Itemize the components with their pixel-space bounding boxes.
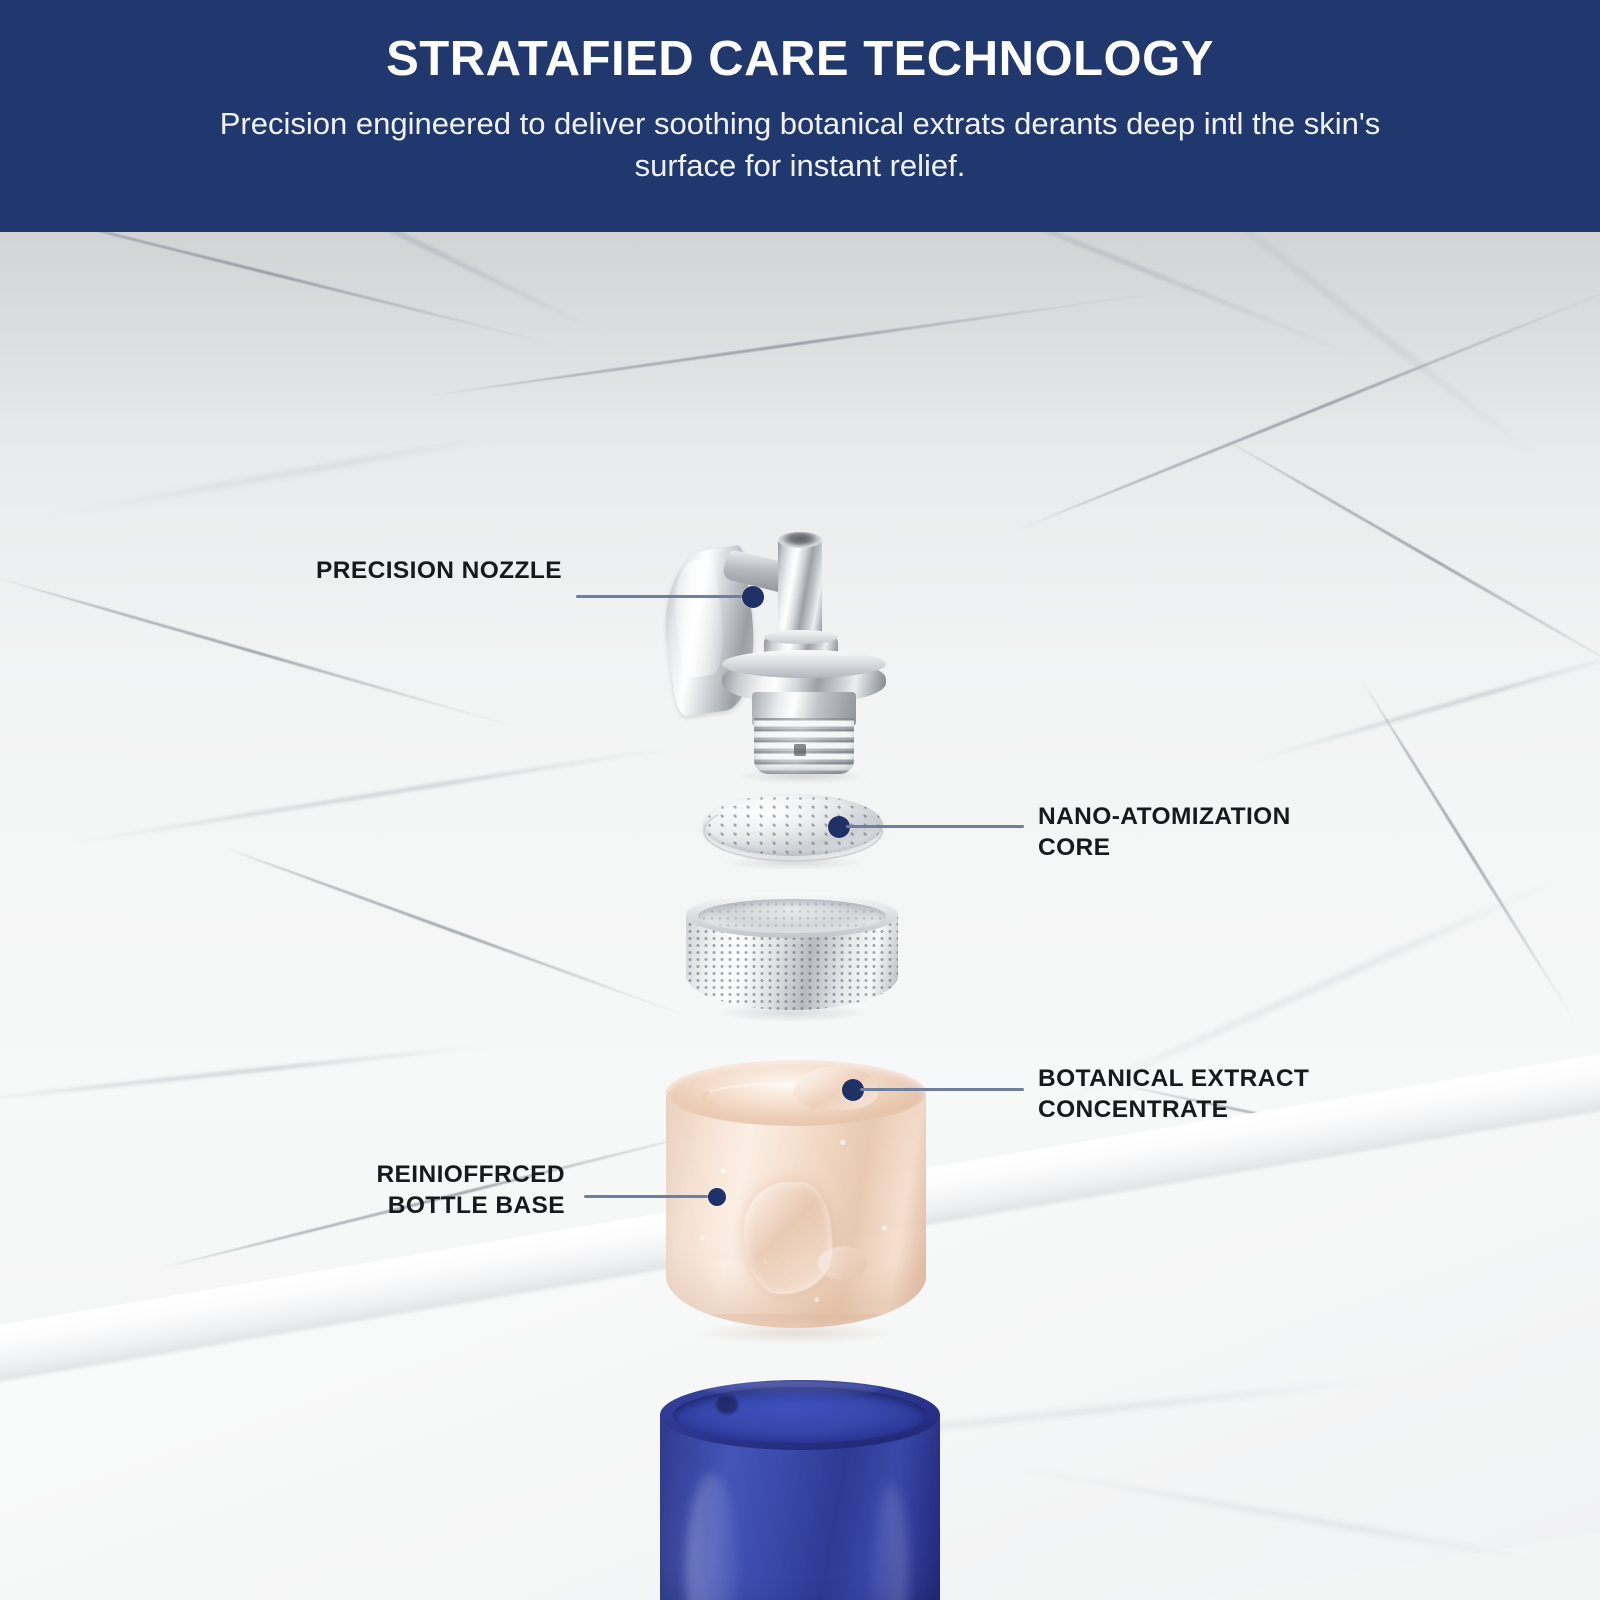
leader-dot-bottle-base (708, 1188, 726, 1206)
page-title: STRATAFIED CARE TECHNOLOGY (386, 34, 1214, 85)
marble-vein (64, 742, 697, 846)
base-gloss-highlight (872, 1484, 908, 1600)
product-scene: PRECISION NOZZLE NANO-ATOMIZATION CORE B… (0, 232, 1600, 1600)
marble-vein (1248, 644, 1600, 764)
marble-vein (215, 843, 705, 1024)
page-subtitle: Precision engineered to deliver soothing… (190, 103, 1410, 187)
pump-collar-top (764, 630, 838, 644)
gel-base-band (666, 1314, 926, 1328)
leader-line-botanical-extract (860, 1088, 1024, 1091)
base-gloss-highlight (686, 1474, 738, 1600)
callout-label-nano-atomization-core: NANO-ATOMIZATION CORE (1038, 802, 1508, 864)
leader-line-precision-nozzle (576, 595, 754, 598)
pump-tube-orifice (778, 532, 822, 548)
pump-flange-top (722, 650, 886, 678)
disc-rim (703, 800, 883, 862)
callout-label-botanical-extract: BOTANICAL EXTRACT CONCENTRATE (1038, 1064, 1508, 1126)
gel-swirl (818, 1246, 866, 1280)
marble-vein (0, 1043, 499, 1106)
pump-drop-shadow (738, 768, 868, 784)
pump-detail-mark (794, 744, 806, 756)
callout-label-precision-nozzle: PRECISION NOZZLE (82, 556, 562, 587)
part-bottle-base (660, 1380, 940, 1600)
gel-swirl (744, 1182, 832, 1294)
callout-label-bottle-base: REINIOFFRCED BOTTLE BASE (100, 1160, 565, 1222)
header-banner: STRATAFIED CARE TECHNOLOGY Precision eng… (0, 0, 1600, 232)
base-opening-detail (716, 1396, 738, 1414)
ring-interior-perforations (700, 901, 884, 931)
part-mesh-ring (686, 892, 898, 1032)
part-perforated-disc (703, 794, 883, 868)
leader-line-nano-atomization-core (846, 825, 1024, 828)
leader-dot-precision-nozzle (742, 586, 764, 608)
part-pump-nozzle (660, 532, 920, 777)
part-gel-cylinder (666, 1060, 926, 1360)
leader-line-bottle-base (584, 1195, 720, 1198)
base-rim-highlight (704, 1381, 880, 1397)
